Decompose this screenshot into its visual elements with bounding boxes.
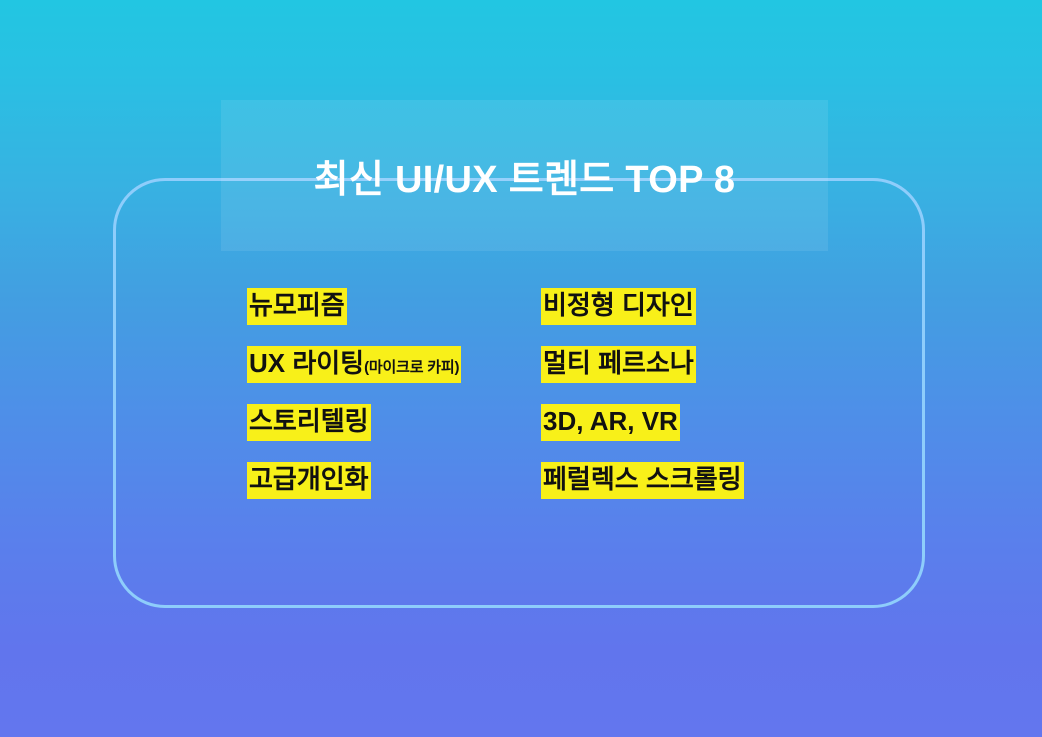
trend-item-label: 멀티 페르소나	[543, 347, 694, 381]
trend-row: 스토리텔링 3D, AR, VR	[247, 404, 847, 462]
trend-item: 고급개인화	[247, 462, 371, 499]
trend-column-left: 뉴모피즘	[247, 288, 541, 325]
trend-item: 스토리텔링	[247, 404, 371, 441]
trend-column-right: 비정형 디자인	[541, 288, 835, 325]
slide-canvas: 최신 UI/UX 트렌드 TOP 8 뉴모피즘 비정형 디자인 UX 라이팅(마…	[0, 0, 1042, 737]
trend-item: 뉴모피즘	[247, 288, 347, 325]
trend-row: UX 라이팅(마이크로 카피) 멀티 페르소나	[247, 346, 847, 404]
page-title: 최신 UI/UX 트렌드 TOP 8	[221, 100, 828, 251]
trend-column-left: 스토리텔링	[247, 404, 541, 441]
trend-item: 비정형 디자인	[541, 288, 696, 325]
trend-list: 뉴모피즘 비정형 디자인 UX 라이팅(마이크로 카피) 멀티 페르소나	[247, 288, 847, 520]
trend-item: UX 라이팅(마이크로 카피)	[247, 346, 461, 383]
trend-item: 멀티 페르소나	[541, 346, 696, 383]
trend-item-label: UX 라이팅	[249, 347, 364, 381]
trend-column-right: 멀티 페르소나	[541, 346, 835, 383]
trend-item-label: 3D, AR, VR	[543, 405, 678, 439]
trend-item-label: 스토리텔링	[249, 405, 369, 439]
trend-item-label: 페럴렉스 스크롤링	[543, 463, 742, 497]
trend-item: 페럴렉스 스크롤링	[541, 462, 744, 499]
trend-item-label: 뉴모피즘	[249, 289, 345, 323]
trend-column-left: UX 라이팅(마이크로 카피)	[247, 346, 541, 383]
trend-column-right: 3D, AR, VR	[541, 404, 835, 441]
trend-item: 3D, AR, VR	[541, 404, 680, 441]
trend-row: 뉴모피즘 비정형 디자인	[247, 288, 847, 346]
trend-item-label: 비정형 디자인	[543, 289, 694, 323]
trend-column-left: 고급개인화	[247, 462, 541, 499]
trend-item-label: 고급개인화	[249, 463, 369, 497]
trend-column-right: 페럴렉스 스크롤링	[541, 462, 835, 499]
trend-row: 고급개인화 페럴렉스 스크롤링	[247, 462, 847, 520]
trend-item-sublabel: (마이크로 카피)	[364, 360, 459, 375]
